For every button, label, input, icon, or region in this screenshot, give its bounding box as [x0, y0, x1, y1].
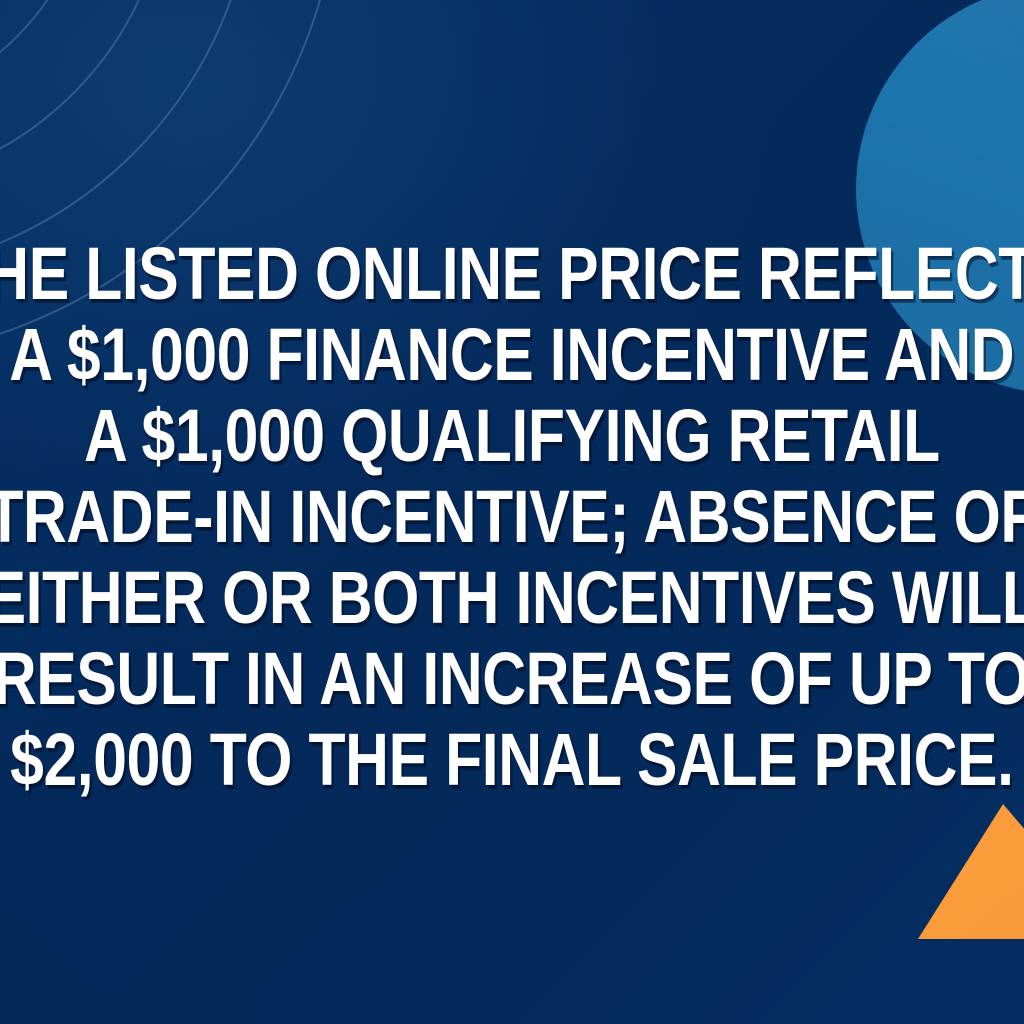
disclaimer-line-4: TRADE-IN INCENTIVE; ABSENCE OF: [0, 476, 1024, 557]
promo-disclaimer-card: THE LISTED ONLINE PRICE REFLECTS A $1,00…: [0, 0, 1024, 1024]
disclaimer-line-2: A $1,000 FINANCE INCENTIVE AND: [10, 314, 1015, 395]
disclaimer-line-3: A $1,000 QUALIFYING RETAIL: [84, 395, 940, 476]
disclaimer-line-1: THE LISTED ONLINE PRICE REFLECTS: [0, 233, 1024, 314]
disclaimer-line-5: EITHER OR BOTH INCENTIVES WILL: [0, 557, 1024, 638]
disclaimer-line-6: RESULT IN AN INCREASE OF UP TO: [0, 638, 1024, 719]
disclaimer-line-7: $2,000 TO THE FINAL SALE PRICE.: [10, 719, 1013, 800]
disclaimer-text-block: THE LISTED ONLINE PRICE REFLECTS A $1,00…: [0, 0, 1024, 1024]
